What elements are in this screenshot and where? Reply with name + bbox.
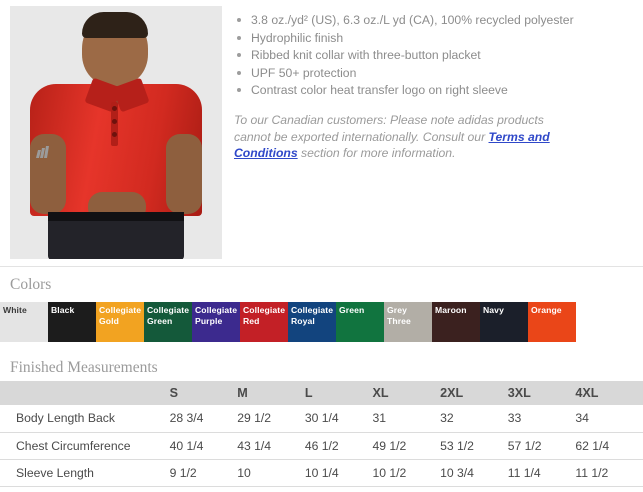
cell-m: 43 1/4	[237, 432, 305, 459]
feature-item: UPF 50+ protection	[234, 65, 635, 82]
feature-item: Hydrophilic finish	[234, 30, 635, 47]
cell-2xl: 53 1/2	[440, 432, 508, 459]
column-header-m: M	[237, 381, 305, 405]
cell-4xl: 62 1/4	[575, 432, 643, 459]
model-hair	[82, 12, 148, 38]
cell-2xl: 32	[440, 405, 508, 432]
swatch-label: Orange	[531, 305, 575, 316]
color-swatch-navy[interactable]: Navy	[480, 302, 528, 342]
color-swatch-maroon[interactable]: Maroon	[432, 302, 480, 342]
table-body: Body Length Back 28 3/4 29 1/2 30 1/4 31…	[0, 405, 643, 486]
color-swatch-white[interactable]: White	[0, 302, 48, 342]
cell-s: 28 3/4	[170, 405, 238, 432]
row-label: Chest Circumference	[0, 432, 170, 459]
color-swatch-black[interactable]: Black	[48, 302, 96, 342]
swatch-label: Collegiate Red	[243, 305, 287, 326]
swatch-label: Collegiate Royal	[291, 305, 335, 326]
swatch-label: Black	[51, 305, 95, 316]
cell-xl: 49 1/2	[372, 432, 440, 459]
table-header: S M L XL 2XL 3XL 4XL	[0, 381, 643, 405]
cell-s: 9 1/2	[170, 459, 238, 486]
feature-item: Contrast color heat transfer logo on rig…	[234, 82, 635, 99]
color-swatch-grey-three[interactable]: Grey Three	[384, 302, 432, 342]
cell-l: 46 1/2	[305, 432, 373, 459]
column-header-s: S	[170, 381, 238, 405]
cell-m: 29 1/2	[237, 405, 305, 432]
cell-3xl: 57 1/2	[508, 432, 576, 459]
product-image[interactable]	[10, 6, 222, 259]
column-header-l: L	[305, 381, 373, 405]
swatch-label: Green	[339, 305, 383, 316]
swatch-label: Collegiate Purple	[195, 305, 239, 326]
column-header-3xl: 3XL	[508, 381, 576, 405]
color-swatch-collegiate-red[interactable]: Collegiate Red	[240, 302, 288, 342]
product-info-column: 3.8 oz./yd² (US), 6.3 oz./L yd (CA), 100…	[222, 6, 643, 259]
cell-3xl: 33	[508, 405, 576, 432]
product-top-section: 3.8 oz./yd² (US), 6.3 oz./L yd (CA), 100…	[0, 0, 643, 259]
cell-2xl: 10 3/4	[440, 459, 508, 486]
color-swatch-orange[interactable]: Orange	[528, 302, 576, 342]
cell-l: 30 1/4	[305, 405, 373, 432]
swatch-label: Grey Three	[387, 305, 431, 326]
color-swatch-collegiate-royal[interactable]: Collegiate Royal	[288, 302, 336, 342]
swatch-label: Navy	[483, 305, 527, 316]
colors-heading: Colors	[10, 276, 51, 294]
swatch-label: Maroon	[435, 305, 479, 316]
polo-button	[112, 106, 117, 111]
canadian-customers-note: To our Canadian customers: Please note a…	[234, 112, 564, 162]
swatch-label: White	[3, 305, 47, 316]
column-header-blank	[0, 381, 170, 405]
color-swatch-green[interactable]: Green	[336, 302, 384, 342]
finished-measurements-table: S M L XL 2XL 3XL 4XL Body Length Back 28…	[0, 381, 643, 487]
cell-m: 10	[237, 459, 305, 486]
color-swatch-row: White Black Collegiate Gold Collegiate G…	[0, 302, 576, 342]
column-header-xl: XL	[372, 381, 440, 405]
swatch-label: Collegiate Gold	[99, 305, 143, 326]
table-header-row: S M L XL 2XL 3XL 4XL	[0, 381, 643, 405]
product-detail-page: 3.8 oz./yd² (US), 6.3 oz./L yd (CA), 100…	[0, 0, 643, 492]
cell-xl: 10 1/2	[372, 459, 440, 486]
note-text-after-link: section for more information.	[298, 146, 456, 160]
cell-3xl: 11 1/4	[508, 459, 576, 486]
cell-xl: 31	[372, 405, 440, 432]
column-header-2xl: 2XL	[440, 381, 508, 405]
table-row: Body Length Back 28 3/4 29 1/2 30 1/4 31…	[0, 405, 643, 432]
model-belt	[48, 212, 184, 221]
polo-button	[112, 132, 117, 137]
cell-l: 10 1/4	[305, 459, 373, 486]
adidas-logo-icon	[36, 146, 50, 158]
feature-list: 3.8 oz./yd² (US), 6.3 oz./L yd (CA), 100…	[234, 12, 635, 99]
color-swatch-collegiate-gold[interactable]: Collegiate Gold	[96, 302, 144, 342]
feature-item: 3.8 oz./yd² (US), 6.3 oz./L yd (CA), 100…	[234, 12, 635, 29]
color-swatch-collegiate-green[interactable]: Collegiate Green	[144, 302, 192, 342]
polo-button	[112, 119, 117, 124]
cell-s: 40 1/4	[170, 432, 238, 459]
table-row: Sleeve Length 9 1/2 10 10 1/4 10 1/2 10 …	[0, 459, 643, 486]
swatch-label: Collegiate Green	[147, 305, 191, 326]
table-row: Chest Circumference 40 1/4 43 1/4 46 1/2…	[0, 432, 643, 459]
section-divider	[0, 266, 643, 267]
row-label: Sleeve Length	[0, 459, 170, 486]
cell-4xl: 11 1/2	[575, 459, 643, 486]
model-right-arm	[166, 134, 202, 214]
row-label: Body Length Back	[0, 405, 170, 432]
cell-4xl: 34	[575, 405, 643, 432]
column-header-4xl: 4XL	[575, 381, 643, 405]
color-swatch-collegiate-purple[interactable]: Collegiate Purple	[192, 302, 240, 342]
measurements-heading: Finished Measurements	[10, 359, 158, 377]
feature-item: Ribbed knit collar with three-button pla…	[234, 47, 635, 64]
